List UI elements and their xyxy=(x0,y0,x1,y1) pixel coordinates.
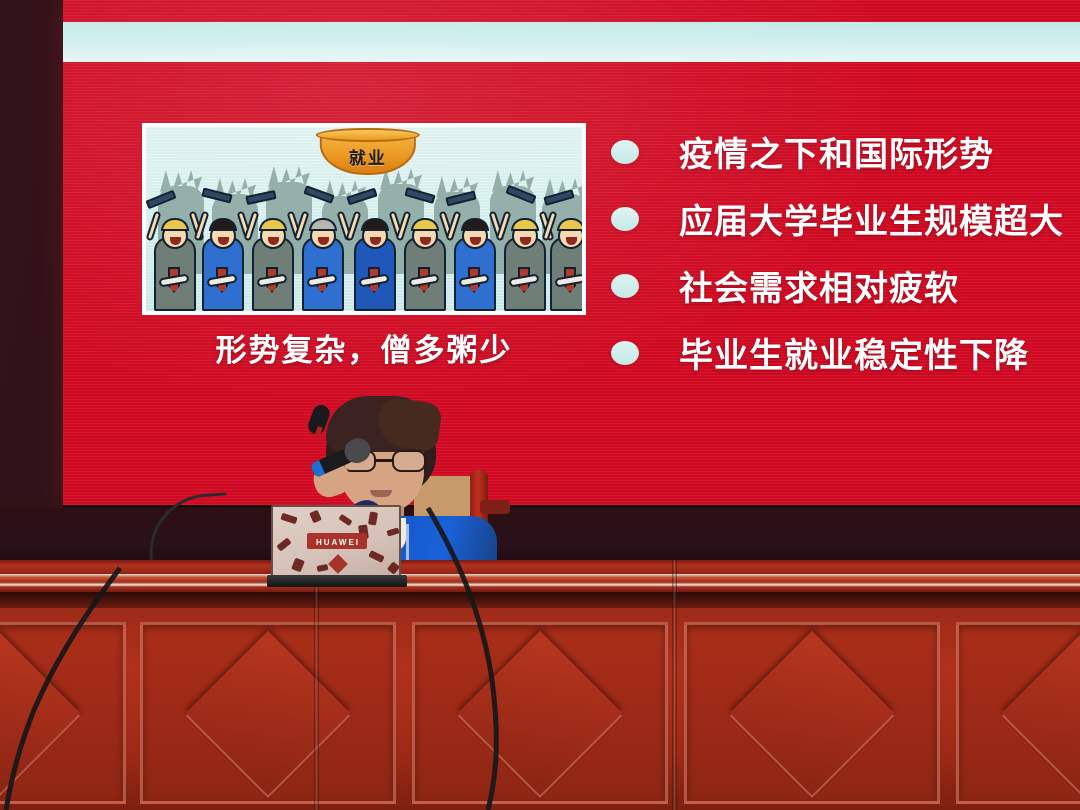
bullet-dot-icon xyxy=(611,341,639,365)
bowl-label: 就业 xyxy=(322,144,414,169)
desk-seam xyxy=(314,560,319,810)
bullet-label: 社会需求相对疲软 xyxy=(679,261,959,310)
slide-bullet-list: 疫情之下和国际形势 应届大学毕业生规模超大 社会需求相对疲软 毕业生就业稳定性下… xyxy=(611,118,1080,386)
microphone-cable xyxy=(410,500,570,810)
desk-seam xyxy=(672,560,677,810)
graduates-row xyxy=(146,193,582,311)
bullet-dot-icon xyxy=(611,207,639,231)
screenshot-root: 就业 xyxy=(0,0,1080,810)
bullet-label: 应届大学毕业生规模超大 xyxy=(679,194,1064,243)
bullet-item: 社会需求相对疲软 xyxy=(611,252,1080,319)
slide-top-band xyxy=(63,22,1080,62)
bullet-item: 毕业生就业稳定性下降 xyxy=(611,319,1080,386)
slide-top-strip xyxy=(63,0,1080,22)
employment-bowl: 就业 xyxy=(320,131,416,175)
bullet-label: 疫情之下和国际形势 xyxy=(679,127,994,176)
laptop-diamond-mark xyxy=(328,554,348,574)
desk-panel xyxy=(956,622,1080,804)
bullet-label: 毕业生就业稳定性下降 xyxy=(679,328,1029,377)
illustration-caption: 形势复杂，僧多粥少 xyxy=(142,325,586,370)
bullet-item: 疫情之下和国际形势 xyxy=(611,118,1080,185)
desk-panel xyxy=(684,622,940,804)
bullet-dot-icon xyxy=(611,274,639,298)
graduates-crowd-cartoon: 就业 xyxy=(146,127,582,311)
desk-mic-cable xyxy=(0,560,300,810)
presentation-screen: 就业 xyxy=(63,0,1080,508)
laptop-brand-label: HUAWEI xyxy=(301,538,375,547)
slide-illustration: 就业 xyxy=(142,123,586,315)
bullet-item: 应届大学毕业生规模超大 xyxy=(611,185,1080,252)
bowl-rim xyxy=(316,128,420,142)
bullet-dot-icon xyxy=(611,140,639,164)
presenter-mouth xyxy=(370,490,392,497)
